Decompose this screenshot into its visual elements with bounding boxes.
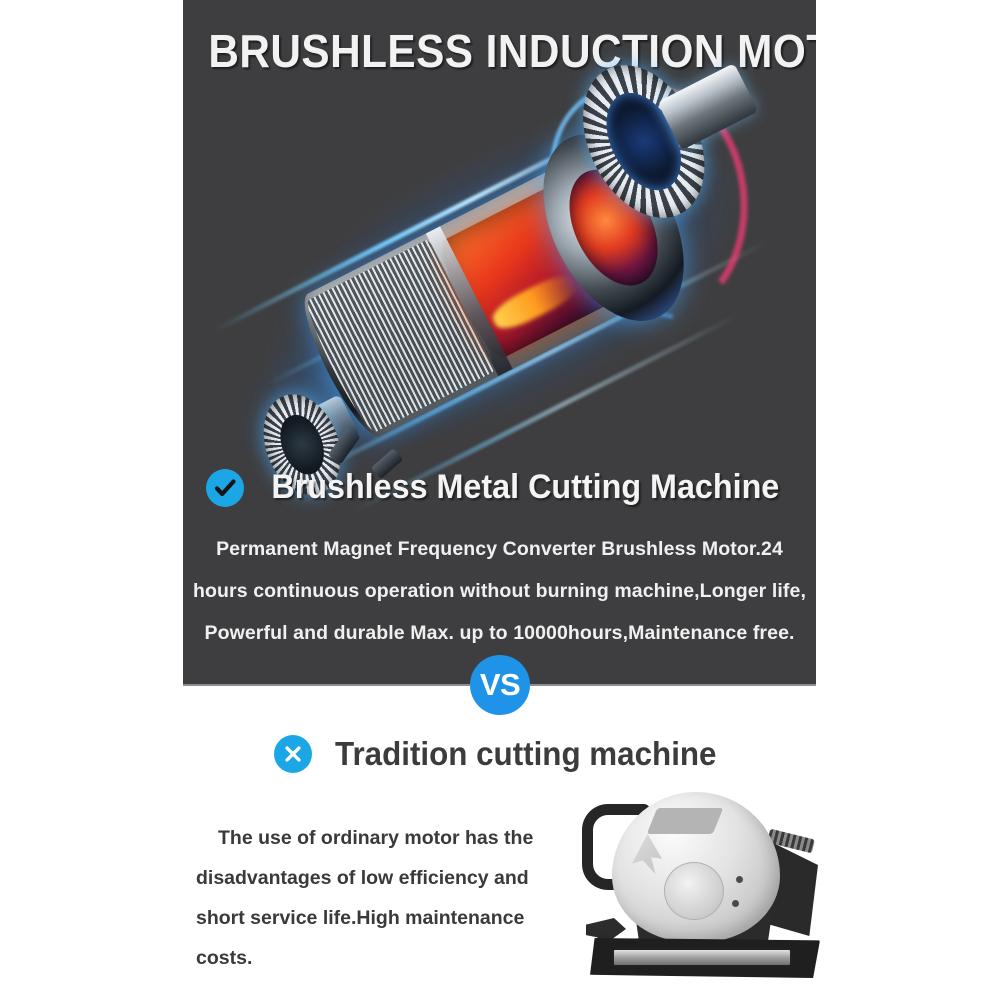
brushless-description-text: Permanent Magnet Frequency Converter Bru… xyxy=(193,528,806,654)
brushless-heading-row: Brushless Metal Cutting Machine xyxy=(183,468,816,507)
saw-guard-window xyxy=(647,808,724,834)
saw-bolt xyxy=(736,876,743,883)
tradition-heading-row: Tradition cutting machine xyxy=(0,735,1000,773)
hero-dark-panel: BRUSHLESS INDUCTION MOTOR xyxy=(183,0,816,686)
tradition-description-text: The use of ordinary motor has the disadv… xyxy=(196,818,556,978)
brushless-motor-cutaway-image xyxy=(203,95,803,455)
saw-hub-ring xyxy=(664,862,724,920)
vs-label: VS xyxy=(480,667,520,703)
chop-saw-cutting-machine-photo xyxy=(560,788,830,980)
tradition-heading-label: Tradition cutting machine xyxy=(335,735,716,773)
vs-circle-badge: VS xyxy=(470,655,530,715)
saw-bolt xyxy=(732,900,739,907)
infographic-page: BRUSHLESS INDUCTION MOTOR xyxy=(0,0,1000,1000)
saw-base-rail xyxy=(612,948,792,967)
check-circle-icon xyxy=(206,469,244,507)
x-circle-icon xyxy=(274,735,312,773)
brushless-heading-label: Brushless Metal Cutting Machine xyxy=(272,468,780,507)
